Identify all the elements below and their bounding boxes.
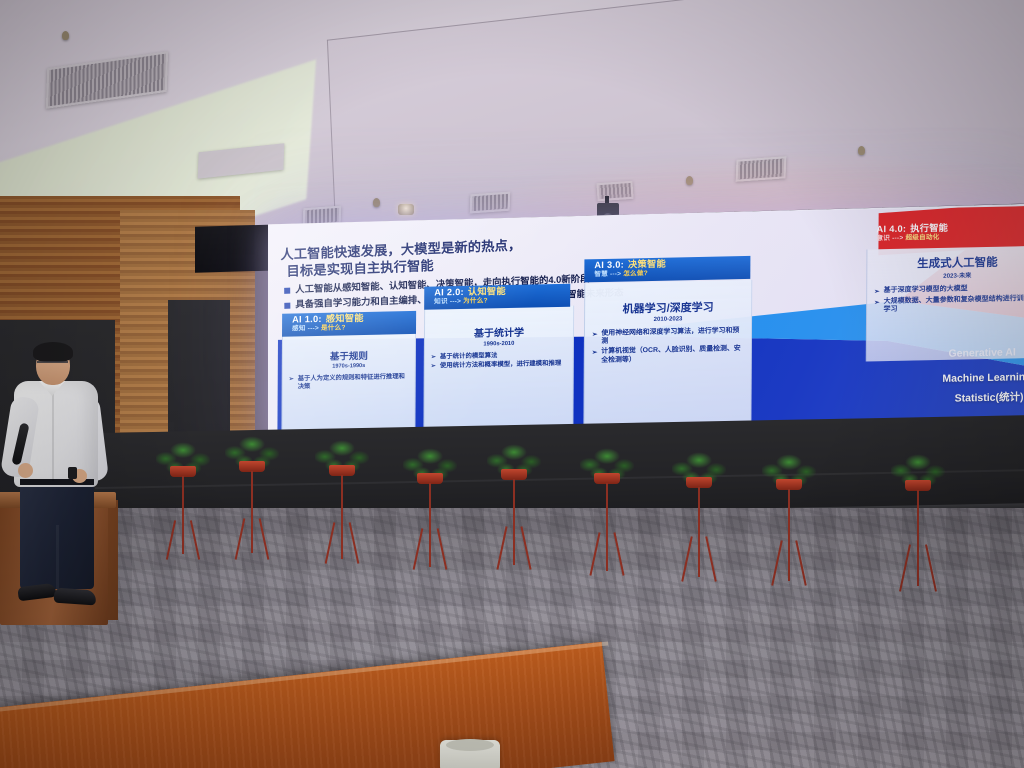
presenter-leg-seam: [56, 525, 59, 589]
plant-stand-leg: [496, 526, 507, 569]
potted-plant: [315, 438, 369, 564]
potted-plant: [487, 442, 541, 570]
stage-card-header-ai4[interactable]: AI 4.0:执行智能 意识 ---> 超级自动化: [866, 219, 1024, 246]
shirt-placket: [52, 389, 54, 481]
stage-name: 决策智能: [628, 259, 666, 270]
conference-room-photo: 人工智能快速发展，大模型是新的热点， 目标是实现自主执行智能 人工智能从感知智能…: [0, 0, 1024, 768]
plant-stand-leg: [681, 536, 693, 581]
plant-stand-leg: [899, 544, 911, 591]
stage-flow-from: 意识: [876, 235, 890, 242]
plant-stand-leg: [325, 522, 336, 563]
stage-flow-from: 感知: [292, 325, 306, 332]
plant-stand-leg: [413, 528, 424, 569]
stage-version: AI 1.0:: [292, 314, 322, 325]
presenter: [6, 345, 116, 620]
stage-card-ai3[interactable]: 机器学习/深度学习 2010-2023 ➢ 使用神经网络和深度学习算法，进行学习…: [583, 280, 752, 428]
stage-flow-arrow: --->: [450, 298, 461, 305]
plant-stand-leg: [235, 518, 246, 559]
bullet-square-icon: [284, 288, 290, 294]
plant-stand-leg: [589, 532, 600, 575]
sprinkler-head: [62, 31, 69, 40]
ceiling-downlight: [398, 204, 414, 215]
plant-stand: [513, 479, 515, 565]
stage-card-point: ➢ 基于人为定义的规则和特征进行推理和决策: [289, 373, 409, 391]
stage-flow-from: 知识: [434, 298, 448, 305]
stage-card-header-ai2[interactable]: AI 2.0:认知智能 知识 ---> 为什么?: [424, 284, 570, 310]
plant-stand-leg: [795, 540, 807, 585]
arrow-icon: ➢: [592, 330, 598, 338]
stage-version: AI 2.0:: [434, 287, 464, 298]
presenter-hair: [33, 342, 73, 362]
stage-card-header-ai3[interactable]: AI 3.0:决策智能 智慧 ---> 怎么做?: [584, 256, 750, 282]
potted-plant: [762, 452, 816, 586]
stage-card-point: ➢ 使用统计方法和概率模型，进行建模和推理: [431, 360, 567, 371]
stage-name: 感知智能: [326, 313, 364, 324]
stage-flow-arrow: --->: [892, 234, 903, 241]
stage-version: AI 3.0:: [594, 260, 624, 271]
plant-stand: [429, 483, 431, 567]
stage-flow-from: 智慧: [594, 271, 608, 278]
stage-card-point: ➢ 基于深度学习模型的大模型: [874, 284, 1024, 296]
stage-flow-to: 超级自动化: [905, 234, 939, 242]
bullet-square-icon: [284, 302, 290, 308]
plant-stand-leg: [613, 532, 624, 575]
plant-stand-leg: [771, 540, 783, 585]
arrow-icon: ➢: [289, 375, 294, 382]
plant-stand-leg: [520, 526, 531, 569]
presenter-left-hand: [18, 463, 33, 478]
potted-plant: [156, 440, 210, 560]
stage-version: AI 4.0:: [877, 224, 907, 235]
plant-stand-leg: [190, 520, 200, 560]
stage-name: 执行智能: [910, 223, 948, 234]
presentation-clicker-icon: [68, 467, 77, 479]
plant-stand: [251, 471, 253, 553]
plant-stand: [917, 490, 919, 586]
stage-name: 认知智能: [468, 286, 506, 297]
stage-flow-arrow: --->: [308, 325, 319, 332]
plant-stand: [606, 483, 608, 571]
plant-stand-leg: [437, 528, 448, 569]
arrow-icon: ➢: [431, 363, 436, 370]
band-label-machine-learning: Machine Learning: [942, 371, 1024, 385]
arrow-icon: ➢: [874, 287, 880, 295]
presenter-right-shoe: [54, 588, 97, 606]
arrow-icon: ➢: [431, 353, 436, 360]
stage-card-point: ➢ 大规模数据、大量参数和复杂模型结构进行训练和学习: [874, 294, 1024, 315]
stage-card-point: ➢ 计算机视觉（OCR、人脸识别、质量检测、安全检测等）: [592, 345, 744, 365]
sprinkler-head: [373, 198, 380, 207]
air-vent: [46, 51, 168, 109]
band-label-statistic: Statistic(统计): [955, 389, 1024, 405]
stage-card-point: ➢ 使用神经网络和深度学习算法，进行学习和预测: [592, 327, 744, 347]
plant-stand-leg: [349, 522, 360, 563]
plant-stand-leg: [925, 544, 937, 591]
plant-stand: [341, 475, 343, 559]
potted-plant: [580, 446, 634, 576]
presentation-screen: 人工智能快速发展，大模型是新的热点， 目标是实现自主执行智能 人工智能从感知智能…: [268, 204, 1024, 453]
stage-flow-arrow: --->: [610, 270, 621, 277]
plant-stand-leg: [705, 536, 717, 581]
potted-plant: [403, 446, 457, 570]
plant-stand-leg: [259, 518, 270, 559]
glasses-icon: [37, 361, 68, 369]
stage-card-header-ai1[interactable]: AI 1.0:感知智能 感知 ---> 是什么?: [282, 311, 416, 336]
arrow-icon: ➢: [874, 298, 880, 306]
stage-flow-to: 为什么?: [463, 297, 488, 305]
potted-plant: [890, 452, 946, 592]
stage-card-ai1[interactable]: 基于规则 1970s-1990s ➢ 基于人为定义的规则和特征进行推理和决策: [281, 331, 416, 434]
potted-plant: [672, 450, 726, 582]
plant-stand: [182, 476, 184, 554]
plant-stand: [698, 487, 700, 577]
stage-flow-to: 是什么?: [321, 324, 346, 332]
plant-stand: [788, 489, 790, 581]
stage-card-ai4[interactable]: 生成式人工智能 2023-未来 ➢ 基于深度学习模型的大模型 ➢ 大规模数据、大…: [866, 246, 1024, 362]
paper-cup-rim: [446, 739, 494, 751]
stage-card-ai2[interactable]: 基于统计学 1990s-2010 ➢ 基于统计的模型算法 ➢ 使用统计方法和概率…: [423, 306, 574, 431]
potted-plant: [225, 434, 279, 560]
plant-stand-leg: [166, 520, 176, 560]
arrow-icon: ➢: [592, 349, 598, 357]
stage-flow-to: 怎么做?: [623, 270, 648, 278]
